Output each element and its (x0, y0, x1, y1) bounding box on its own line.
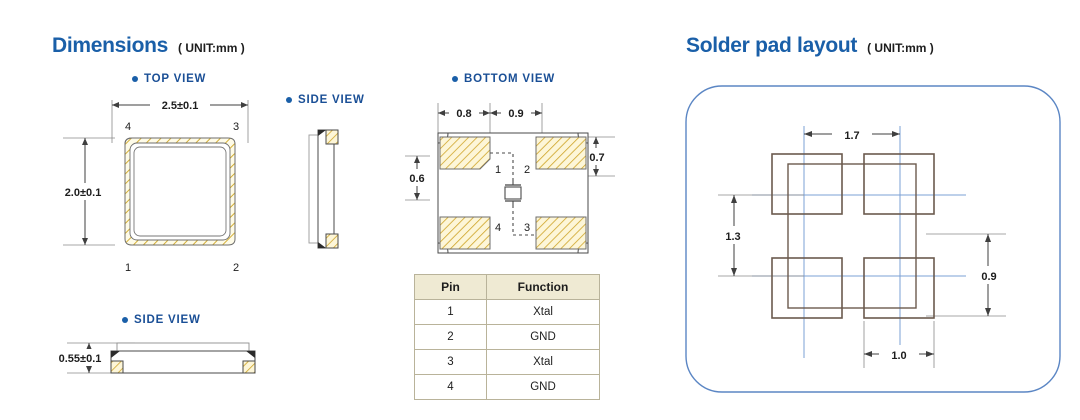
bottom-view-label-text: BOTTOM VIEW (464, 73, 555, 85)
solder-pad-dim-bottom-text: 1.0 (891, 350, 906, 362)
side-profile-drawing: 0.55±0.1 (45, 335, 315, 395)
side-profile-height-text: 0.55±0.1 (59, 353, 102, 365)
solder-pad-dim-left-text: 1.3 (725, 231, 740, 243)
table-row: 3 Xtal (415, 350, 600, 375)
top-view-pin-3: 3 (233, 121, 239, 133)
bottom-view-label: BOTTOM VIEW (452, 73, 555, 85)
bottom-view-dim-right: 0.9 (508, 108, 523, 120)
bottom-view-pad-1 (440, 137, 490, 169)
table-row: 2 GND (415, 325, 600, 350)
dimensions-heading: Dimensions (52, 34, 168, 58)
side-view-right-drawing (300, 128, 370, 258)
table-row: 1 Xtal (415, 300, 600, 325)
bullet-icon (122, 317, 128, 323)
bottom-view-crystal-symbol (505, 181, 521, 205)
bottom-view-pin-3: 3 (524, 222, 530, 234)
solder-pad-dim-top-text: 1.7 (844, 130, 859, 142)
table-row: 4 GND (415, 375, 600, 400)
side-view-right-label: SIDE VIEW (286, 94, 365, 106)
cell-pin: 1 (415, 300, 487, 325)
side-view-bottom-label-text: SIDE VIEW (134, 314, 201, 326)
side-view-right-label-text: SIDE VIEW (298, 94, 365, 106)
dimensions-title: Dimensions ( UNIT:mm ) (52, 34, 245, 58)
bottom-view-pin-2: 2 (524, 164, 530, 176)
dimensions-panel: Dimensions ( UNIT:mm ) TOP VIEW 2. (0, 0, 660, 420)
bottom-view-pad-4 (440, 217, 490, 249)
solder-pad-heading: Solder pad layout (686, 34, 857, 58)
cell-pin: 4 (415, 375, 487, 400)
dimensions-unit: ( UNIT:mm ) (178, 41, 245, 55)
bullet-icon (286, 97, 292, 103)
top-view-pin-4: 4 (125, 121, 131, 133)
cell-pin: 3 (415, 350, 487, 375)
bottom-view-dim-vertical-right-text: 0.7 (589, 152, 604, 164)
bottom-view-dim-vertical-left-text: 0.6 (409, 173, 424, 185)
bottom-view-pad-2 (536, 137, 586, 169)
top-view-width-text: 2.5±0.1 (162, 100, 199, 112)
side-view-bottom-label: SIDE VIEW (122, 314, 201, 326)
top-view-width-dimension: 2.5±0.1 (112, 96, 248, 143)
solder-pad-title: Solder pad layout ( UNIT:mm ) (686, 34, 934, 58)
solder-pad-panel: Solder pad layout ( UNIT:mm ) 1.7 (660, 0, 1080, 420)
bottom-view-pin-1: 1 (495, 164, 501, 176)
cell-function: Xtal (487, 300, 600, 325)
top-view-height-text: 2.0±0.1 (65, 187, 102, 199)
solder-pad-drawing: 1.7 1.3 0.9 (676, 76, 1072, 406)
bottom-view-dim-left: 0.8 (456, 108, 471, 120)
bottom-view-pad-3 (536, 217, 586, 249)
cell-function: GND (487, 325, 600, 350)
solder-pad-dim-right-text: 0.9 (981, 271, 996, 283)
bullet-icon (452, 76, 458, 82)
top-view-package-body (125, 138, 252, 245)
solder-pad-unit: ( UNIT:mm ) (867, 41, 934, 55)
column-header-function: Function (487, 275, 600, 300)
cell-function: Xtal (487, 350, 600, 375)
bullet-icon (132, 76, 138, 82)
top-view-drawing: 2.5±0.1 4 3 1 2 2.0±0.1 (55, 95, 290, 285)
top-view-label-text: TOP VIEW (144, 73, 206, 85)
cell-pin: 2 (415, 325, 487, 350)
cell-function: GND (487, 375, 600, 400)
bottom-view-drawing: 0.8 0.9 0.6 0.7 (400, 95, 630, 265)
top-view-height-dimension: 2.0±0.1 (55, 138, 115, 245)
top-view-pin-2: 2 (233, 262, 239, 274)
top-view-label: TOP VIEW (132, 73, 206, 85)
bottom-view-pin-4: 4 (495, 222, 501, 234)
pin-function-table: Pin Function 1 Xtal 2 GND 3 Xtal 4 GND (414, 274, 600, 400)
top-view-pin-1: 1 (125, 262, 131, 274)
table-header-row: Pin Function (415, 275, 600, 300)
column-header-pin: Pin (415, 275, 487, 300)
